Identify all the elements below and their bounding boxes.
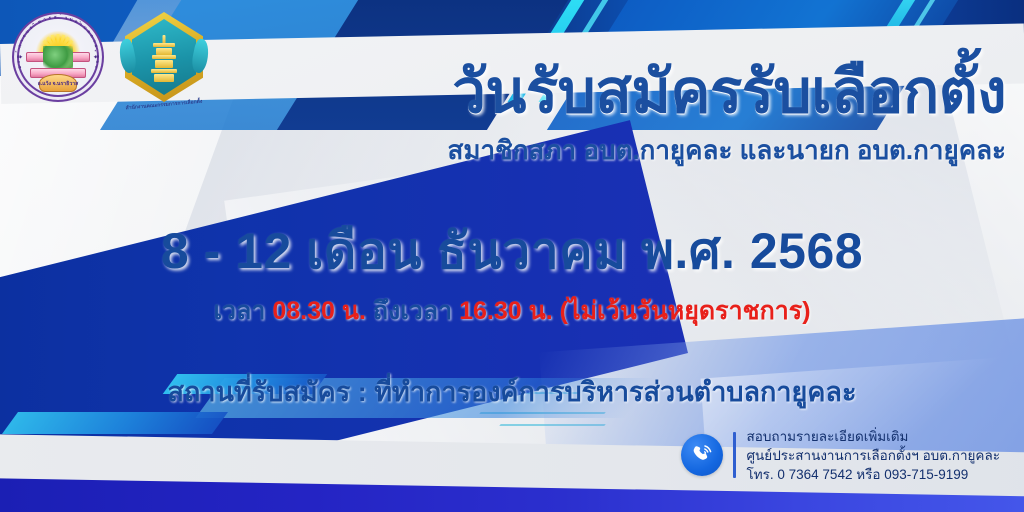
- title-block: วันรับสมัครรับเลือกตั้ง สมาชิกสภา อบต.กา…: [448, 62, 1006, 171]
- star-left-icon: ✦: [18, 54, 23, 61]
- election-commission-seal: สำนักงานคณะกรรมการการเลือกตั้ง: [114, 6, 214, 110]
- page-title: วันรับสมัครรับเลือกตั้ง: [448, 62, 1006, 122]
- pagoda-icon: [149, 35, 179, 83]
- contact-block: สอบถามรายละเอียดเพิ่มเติม ศูนย์ประสานงาน…: [681, 427, 1000, 484]
- time-value-to: 16.30 น.: [459, 297, 553, 325]
- star-right-icon: ✦: [93, 54, 98, 61]
- page-subtitle: สมาชิกสภา อบต.กายูคละ และนายก อบต.กายูคล…: [448, 130, 1006, 171]
- contact-line-2: ศูนย์ประสานงานการเลือกตั้งฯ อบต.กายูคละ: [746, 446, 1000, 465]
- contact-divider: [733, 432, 736, 478]
- logo-group: องค์การบริหารส่วนตำบลกายูคละ ✦ ✦ อ.แว้ง …: [8, 6, 214, 110]
- contact-line-1: สอบถามรายละเอียดเพิ่มเติม: [746, 427, 1000, 446]
- contact-line-3[interactable]: โทร. 0 7364 7542 หรือ 093-715-9199: [746, 465, 1000, 484]
- local-seal-disc: องค์การบริหารส่วนตำบลกายูคละ ✦ ✦ อ.แว้ง …: [12, 12, 104, 102]
- time-value-from: 08.30 น.: [272, 297, 366, 325]
- local-government-seal: องค์การบริหารส่วนตำบลกายูคละ ✦ ✦ อ.แว้ง …: [8, 6, 108, 110]
- election-registration-banner: องค์การบริหารส่วนตำบลกายูคละ ✦ ✦ อ.แว้ง …: [0, 0, 1024, 512]
- time-note: (ไม่เว้นวันหยุดราชการ): [560, 297, 811, 325]
- time-label-to: ถึงเวลา: [373, 297, 452, 325]
- contact-text: สอบถามรายละเอียดเพิ่มเติม ศูนย์ประสานงาน…: [746, 427, 1000, 484]
- foliage-icon: [43, 46, 73, 68]
- time-line: เวลา 08.30 น. ถึงเวลา 16.30 น. (ไม่เว้นว…: [0, 291, 1024, 331]
- place-line: สถานที่รับสมัคร : ที่ทำการองค์การบริหารส…: [0, 370, 1024, 413]
- ect-seal-hex: [114, 8, 214, 106]
- date-line: 8 - 12 เดือน ธันวาคม พ.ศ. 2568: [0, 212, 1024, 291]
- phone-ringing-icon[interactable]: [681, 434, 723, 476]
- time-label-from: เวลา: [213, 297, 265, 325]
- local-seal-sub-text: อ.แว้ง จ.นราธิวาส: [38, 80, 79, 88]
